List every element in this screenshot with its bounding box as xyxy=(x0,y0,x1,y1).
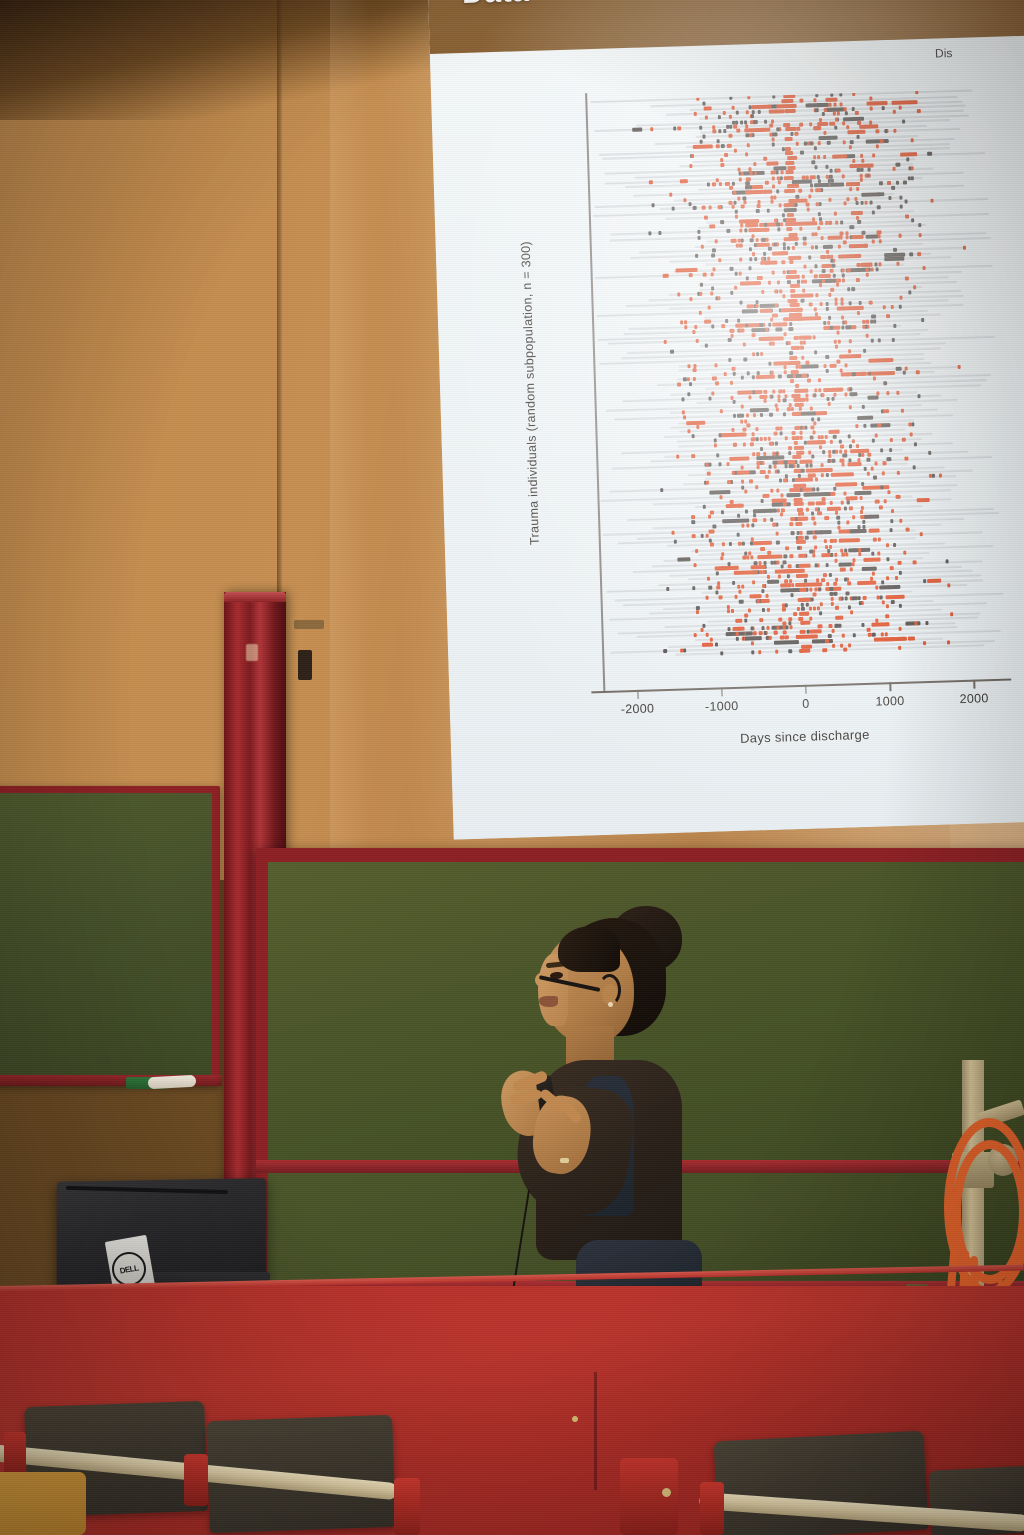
event-marker-dispensation xyxy=(774,432,777,436)
event-marker-dispensation xyxy=(747,423,750,427)
event-marker-dispensation xyxy=(714,443,717,447)
event-marker-other xyxy=(700,283,703,287)
event-marker-dispensation xyxy=(758,375,775,380)
event-marker-dispensation xyxy=(813,99,816,103)
event-marker-other xyxy=(817,417,820,421)
event-marker-other xyxy=(777,470,780,474)
event-marker-dispensation xyxy=(825,221,828,225)
event-marker-dispensation xyxy=(735,594,738,598)
rail-bracket xyxy=(184,1454,208,1506)
event-marker-other xyxy=(788,464,791,468)
event-marker-dispensation xyxy=(778,574,781,578)
event-marker-dispensation xyxy=(677,293,680,297)
event-marker-dispensation xyxy=(756,465,759,469)
event-marker-dispensation xyxy=(829,122,832,126)
event-marker-other xyxy=(782,213,785,217)
event-marker-dispensation xyxy=(850,183,853,187)
event-marker-dispensation xyxy=(844,320,847,324)
event-marker-other xyxy=(681,397,684,401)
event-marker-dispensation xyxy=(689,297,692,301)
event-marker-other xyxy=(852,633,855,637)
event-marker-dispensation xyxy=(829,221,832,225)
event-marker-dispensation xyxy=(842,121,845,125)
event-marker-dispensation xyxy=(768,550,771,554)
event-marker-dispensation xyxy=(781,260,785,264)
event-marker-dispensation xyxy=(880,139,883,143)
event-marker-dispensation xyxy=(771,176,774,180)
event-marker-dispensation xyxy=(692,454,695,458)
event-marker-dispensation xyxy=(760,243,763,247)
event-marker-dispensation xyxy=(811,232,814,236)
event-marker-other xyxy=(756,437,759,441)
event-marker-dispensation xyxy=(858,548,861,552)
event-marker-other xyxy=(788,621,791,625)
event-marker-dispensation xyxy=(786,203,791,207)
event-marker-dispensation xyxy=(886,614,889,618)
event-marker-dispensation xyxy=(830,254,833,258)
event-marker-dispensation xyxy=(694,633,697,637)
wooden-seat[interactable] xyxy=(0,1472,86,1535)
event-marker-dispensation xyxy=(846,520,849,524)
event-marker-other xyxy=(818,587,821,591)
event-marker-dispensation xyxy=(782,270,785,274)
event-marker-dispensation xyxy=(847,197,850,201)
event-marker-dispensation xyxy=(830,269,833,273)
event-marker-dispensation xyxy=(726,504,744,509)
event-marker-dispensation xyxy=(892,100,918,105)
event-marker-other xyxy=(697,230,700,234)
event-marker-dispensation xyxy=(801,620,810,624)
event-marker-dispensation xyxy=(772,185,775,189)
event-marker-other xyxy=(848,444,851,448)
event-marker-dispensation xyxy=(819,445,822,449)
event-marker-other xyxy=(735,272,738,276)
event-marker-other xyxy=(848,434,851,438)
event-marker-other xyxy=(840,221,843,225)
event-marker-dispensation xyxy=(765,180,768,184)
event-marker-dispensation xyxy=(783,94,796,98)
event-marker-other xyxy=(774,242,777,246)
event-marker-dispensation xyxy=(713,130,716,134)
event-marker-dispensation xyxy=(895,495,901,499)
event-marker-dispensation xyxy=(770,489,773,493)
event-marker-other xyxy=(760,499,763,503)
event-marker-other xyxy=(849,387,852,391)
event-marker-dispensation xyxy=(760,308,772,312)
event-marker-other xyxy=(803,441,806,445)
event-marker-other xyxy=(745,632,751,636)
event-marker-dispensation xyxy=(859,496,862,500)
event-marker-dispensation xyxy=(739,228,742,232)
event-marker-other xyxy=(791,327,794,331)
event-marker-other xyxy=(692,586,695,590)
event-marker-other xyxy=(877,206,880,210)
event-marker-other xyxy=(790,593,793,597)
event-marker-dispensation xyxy=(849,506,852,510)
event-marker-dispensation xyxy=(841,315,844,319)
event-marker-dispensation xyxy=(792,436,797,440)
event-marker-dispensation xyxy=(852,439,855,443)
event-marker-dispensation xyxy=(753,594,756,598)
event-marker-dispensation xyxy=(861,453,864,457)
event-marker-dispensation xyxy=(784,630,787,634)
event-marker-dispensation xyxy=(867,628,870,632)
event-marker-other xyxy=(899,571,902,575)
event-marker-other xyxy=(673,126,676,130)
event-marker-dispensation xyxy=(717,581,720,585)
event-marker-dispensation xyxy=(790,284,800,288)
event-marker-dispensation xyxy=(814,507,817,511)
event-marker-dispensation xyxy=(939,474,942,478)
event-marker-dispensation xyxy=(791,275,794,279)
event-marker-dispensation xyxy=(741,433,744,437)
x-tick xyxy=(889,682,891,691)
event-marker-other xyxy=(772,132,778,136)
event-marker-dispensation xyxy=(831,472,854,477)
event-marker-other xyxy=(823,245,833,249)
plot-area xyxy=(585,89,1006,661)
event-marker-other xyxy=(889,448,892,452)
event-marker-dispensation xyxy=(868,358,893,363)
event-marker-other xyxy=(898,604,901,608)
event-marker-dispensation xyxy=(824,435,827,439)
event-marker-other xyxy=(767,579,779,583)
event-marker-other xyxy=(892,338,895,342)
event-marker-other xyxy=(796,464,799,468)
event-marker-dispensation xyxy=(782,389,785,393)
event-marker-dispensation xyxy=(783,237,795,241)
event-marker-dispensation xyxy=(841,269,844,273)
event-marker-dispensation xyxy=(710,273,713,277)
event-marker-dispensation xyxy=(787,184,799,188)
event-marker-dispensation xyxy=(700,628,703,632)
event-marker-dispensation xyxy=(814,232,817,236)
event-marker-dispensation xyxy=(864,201,867,205)
event-marker-dispensation xyxy=(715,363,718,367)
event-marker-dispensation xyxy=(748,228,769,233)
event-marker-dispensation xyxy=(722,324,725,328)
event-marker-dispensation xyxy=(805,389,808,393)
event-marker-other xyxy=(702,624,705,628)
event-marker-other xyxy=(889,529,892,533)
x-tick xyxy=(637,690,639,699)
event-marker-dispensation xyxy=(700,245,703,249)
event-marker-other xyxy=(735,110,738,114)
event-marker-dispensation xyxy=(794,502,803,506)
event-marker-dispensation xyxy=(756,238,759,242)
x-axis xyxy=(591,679,1011,693)
event-marker-other xyxy=(699,140,702,144)
event-marker-dispensation xyxy=(756,599,759,603)
event-marker-other xyxy=(813,146,816,150)
event-marker-dispensation xyxy=(782,607,785,611)
event-marker-other xyxy=(834,126,837,130)
event-marker-other xyxy=(767,209,770,213)
event-marker-dispensation xyxy=(744,490,747,494)
event-marker-dispensation xyxy=(808,473,816,477)
event-marker-dispensation xyxy=(947,640,950,644)
event-marker-dispensation xyxy=(791,317,800,321)
event-marker-dispensation xyxy=(958,365,961,369)
event-marker-dispensation xyxy=(712,125,715,129)
event-marker-other xyxy=(826,302,829,306)
event-marker-dispensation xyxy=(855,111,858,115)
event-marker-dispensation xyxy=(796,384,799,388)
event-marker-dispensation xyxy=(792,412,800,416)
event-marker-dispensation xyxy=(699,310,702,314)
event-marker-other xyxy=(711,324,714,328)
event-marker-dispensation xyxy=(836,605,839,609)
event-marker-other xyxy=(867,395,878,399)
event-marker-other xyxy=(801,299,805,303)
event-marker-other xyxy=(732,581,735,585)
event-marker-dispensation xyxy=(804,280,807,284)
event-marker-dispensation xyxy=(838,525,841,529)
event-marker-dispensation xyxy=(783,479,786,483)
event-marker-other xyxy=(816,488,819,492)
event-marker-dispensation xyxy=(825,639,828,643)
event-marker-dispensation xyxy=(923,641,926,645)
event-marker-other xyxy=(711,287,714,291)
event-marker-dispensation xyxy=(774,290,777,294)
event-marker-other xyxy=(660,488,663,492)
event-marker-dispensation xyxy=(798,597,811,601)
event-marker-other xyxy=(877,338,880,342)
event-marker-dispensation xyxy=(882,305,885,309)
event-marker-dispensation xyxy=(780,513,783,517)
event-marker-other xyxy=(826,165,829,169)
event-marker-dispensation xyxy=(789,270,797,274)
event-marker-other xyxy=(776,189,779,193)
event-marker-other xyxy=(721,510,724,514)
event-marker-dispensation xyxy=(775,313,778,317)
event-marker-dispensation xyxy=(830,596,833,600)
event-marker-dispensation xyxy=(835,615,843,619)
event-marker-dispensation xyxy=(705,633,708,637)
event-marker-other xyxy=(727,627,730,631)
event-marker-dispensation xyxy=(759,631,762,635)
event-marker-dispensation xyxy=(782,626,785,630)
event-marker-dispensation xyxy=(817,606,820,610)
event-marker-other xyxy=(751,523,754,527)
event-marker-dispensation xyxy=(682,410,685,414)
event-marker-dispensation xyxy=(837,112,840,116)
event-marker-other xyxy=(850,140,853,144)
event-marker-dispensation xyxy=(905,277,908,281)
event-marker-other xyxy=(826,355,829,359)
event-marker-dispensation xyxy=(819,302,822,306)
event-marker-dispensation xyxy=(717,586,720,590)
event-marker-dispensation xyxy=(817,122,828,126)
event-marker-dispensation xyxy=(890,566,893,570)
event-marker-dispensation xyxy=(831,363,836,367)
event-marker-dispensation xyxy=(762,565,765,569)
event-marker-other xyxy=(753,120,756,124)
event-marker-other xyxy=(730,267,733,271)
event-marker-other xyxy=(745,323,748,327)
seat-mount-bracket xyxy=(620,1458,678,1535)
event-marker-dispensation xyxy=(803,242,806,246)
event-marker-other xyxy=(752,390,755,394)
event-marker-dispensation xyxy=(794,426,801,430)
event-marker-dispensation xyxy=(775,650,778,654)
event-marker-dispensation xyxy=(878,424,881,428)
event-marker-dispensation xyxy=(743,442,746,446)
event-marker-other xyxy=(911,176,914,180)
event-marker-dispensation xyxy=(753,631,756,635)
slide-body: Dis -2000-1000010002000 Days since disch… xyxy=(430,36,1024,840)
event-marker-other xyxy=(814,350,817,354)
event-marker-dispensation xyxy=(686,420,706,425)
event-marker-dispensation xyxy=(811,245,814,249)
event-marker-other xyxy=(911,219,914,223)
event-marker-dispensation xyxy=(735,566,738,570)
event-marker-other xyxy=(857,525,860,529)
event-marker-dispensation xyxy=(849,145,852,149)
event-marker-other xyxy=(819,530,831,534)
event-marker-dispensation xyxy=(834,559,837,563)
event-marker-dispensation xyxy=(903,551,906,555)
event-marker-dispensation xyxy=(848,582,851,586)
event-marker-dispensation xyxy=(873,538,876,542)
event-marker-dispensation xyxy=(913,285,916,289)
event-marker-dispensation xyxy=(720,158,723,162)
event-marker-dispensation xyxy=(806,208,809,212)
event-marker-other xyxy=(773,561,776,565)
event-marker-dispensation xyxy=(798,512,801,516)
event-marker-dispensation xyxy=(900,153,917,158)
event-marker-other xyxy=(903,181,906,185)
event-marker-other xyxy=(737,514,740,518)
event-marker-other xyxy=(830,587,833,591)
event-marker-dispensation xyxy=(852,159,855,163)
event-marker-other xyxy=(857,415,874,420)
event-marker-dispensation xyxy=(780,223,783,227)
event-marker-other xyxy=(827,141,830,145)
event-marker-dispensation xyxy=(883,409,886,413)
event-marker-other xyxy=(806,464,809,468)
event-marker-other xyxy=(836,516,839,520)
event-marker-other xyxy=(751,115,754,119)
event-marker-dispensation xyxy=(911,167,914,171)
event-marker-other xyxy=(789,322,792,326)
event-marker-dispensation xyxy=(750,556,753,560)
event-marker-other xyxy=(711,254,714,258)
event-marker-other xyxy=(737,413,744,417)
event-marker-dispensation xyxy=(730,333,733,337)
event-marker-other xyxy=(861,623,864,627)
event-marker-other xyxy=(666,587,669,591)
event-marker-dispensation xyxy=(844,201,847,205)
event-marker-other xyxy=(874,263,877,267)
event-marker-dispensation xyxy=(730,381,733,385)
chart-legend: Dis xyxy=(935,45,999,61)
event-marker-dispensation xyxy=(827,402,830,406)
event-marker-other xyxy=(744,618,747,622)
event-marker-other xyxy=(719,463,722,467)
event-marker-other xyxy=(764,119,767,123)
event-marker-other xyxy=(737,533,740,537)
event-marker-dispensation xyxy=(742,523,745,527)
event-marker-dispensation xyxy=(694,112,697,116)
event-marker-dispensation xyxy=(716,144,719,148)
event-marker-dispensation xyxy=(796,574,808,578)
event-marker-other xyxy=(803,142,808,146)
event-marker-dispensation xyxy=(886,409,889,413)
x-tick-label: 0 xyxy=(802,697,810,711)
event-marker-dispensation xyxy=(735,627,745,631)
event-marker-other xyxy=(807,630,810,634)
event-marker-other xyxy=(760,447,763,451)
event-marker-dispensation xyxy=(777,280,780,284)
bracket-screw xyxy=(662,1488,671,1497)
event-marker-other xyxy=(847,605,850,609)
event-marker-other xyxy=(759,636,762,640)
event-marker-dispensation xyxy=(792,246,795,250)
event-marker-dispensation xyxy=(806,397,809,401)
event-marker-other xyxy=(851,225,854,229)
event-marker-other xyxy=(872,438,875,442)
event-marker-dispensation xyxy=(828,293,831,297)
x-tick-label: 2000 xyxy=(959,691,988,706)
event-marker-dispensation xyxy=(786,227,792,231)
event-marker-dispensation xyxy=(752,333,755,337)
event-marker-dispensation xyxy=(871,572,874,576)
event-marker-dispensation xyxy=(740,466,743,470)
event-marker-dispensation xyxy=(897,262,900,266)
event-marker-dispensation xyxy=(747,608,750,612)
event-marker-dispensation xyxy=(870,163,873,167)
event-marker-other xyxy=(718,434,721,438)
event-marker-other xyxy=(819,217,822,221)
event-marker-dispensation xyxy=(780,171,783,175)
event-marker-dispensation xyxy=(693,145,712,150)
event-marker-dispensation xyxy=(765,327,768,331)
event-marker-dispensation xyxy=(727,181,730,185)
event-marker-dispensation xyxy=(790,522,793,526)
x-tick-label: -2000 xyxy=(621,701,655,716)
x-tick xyxy=(721,687,723,696)
event-marker-other xyxy=(683,377,686,381)
event-marker-dispensation xyxy=(732,367,735,371)
event-marker-other xyxy=(833,435,836,439)
event-marker-dispensation xyxy=(824,364,827,368)
event-marker-dispensation xyxy=(785,137,792,141)
dell-logo-text: DELL xyxy=(119,1263,139,1275)
event-marker-other xyxy=(761,589,764,593)
event-marker-dispensation xyxy=(746,189,773,194)
event-marker-dispensation xyxy=(694,325,697,329)
event-marker-other xyxy=(804,578,807,582)
event-marker-dispensation xyxy=(877,234,880,238)
event-marker-dispensation xyxy=(823,440,826,444)
event-marker-other xyxy=(763,509,766,513)
event-marker-dispensation xyxy=(913,561,916,565)
event-marker-other xyxy=(921,318,924,322)
event-marker-dispensation xyxy=(777,508,780,512)
event-marker-dispensation xyxy=(737,238,740,242)
event-marker-dispensation xyxy=(785,436,788,440)
event-marker-dispensation xyxy=(743,342,746,346)
event-marker-dispensation xyxy=(746,110,749,114)
event-marker-dispensation xyxy=(785,161,792,165)
event-marker-dispensation xyxy=(840,103,843,107)
event-marker-dispensation xyxy=(799,612,807,616)
event-marker-dispensation xyxy=(669,192,672,196)
event-marker-dispensation xyxy=(766,261,769,265)
event-marker-other xyxy=(902,119,905,123)
event-marker-dispensation xyxy=(846,126,849,130)
